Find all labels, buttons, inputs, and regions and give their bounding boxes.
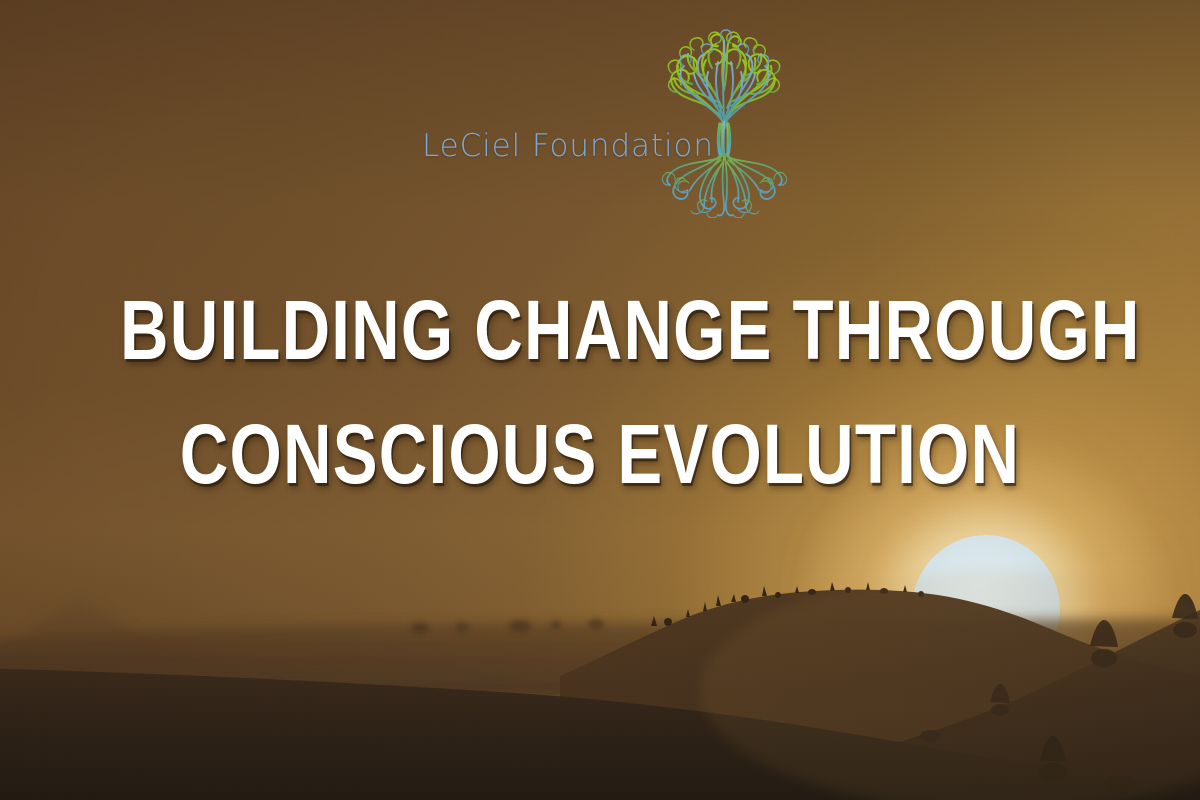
sun-disc [912,535,1060,683]
filigree-tree-logo-icon [658,28,790,218]
leciel-foundation-logo[interactable]: LeCiel Foundation [420,28,790,218]
hero-banner: LeCiel Foundation [0,0,1200,800]
